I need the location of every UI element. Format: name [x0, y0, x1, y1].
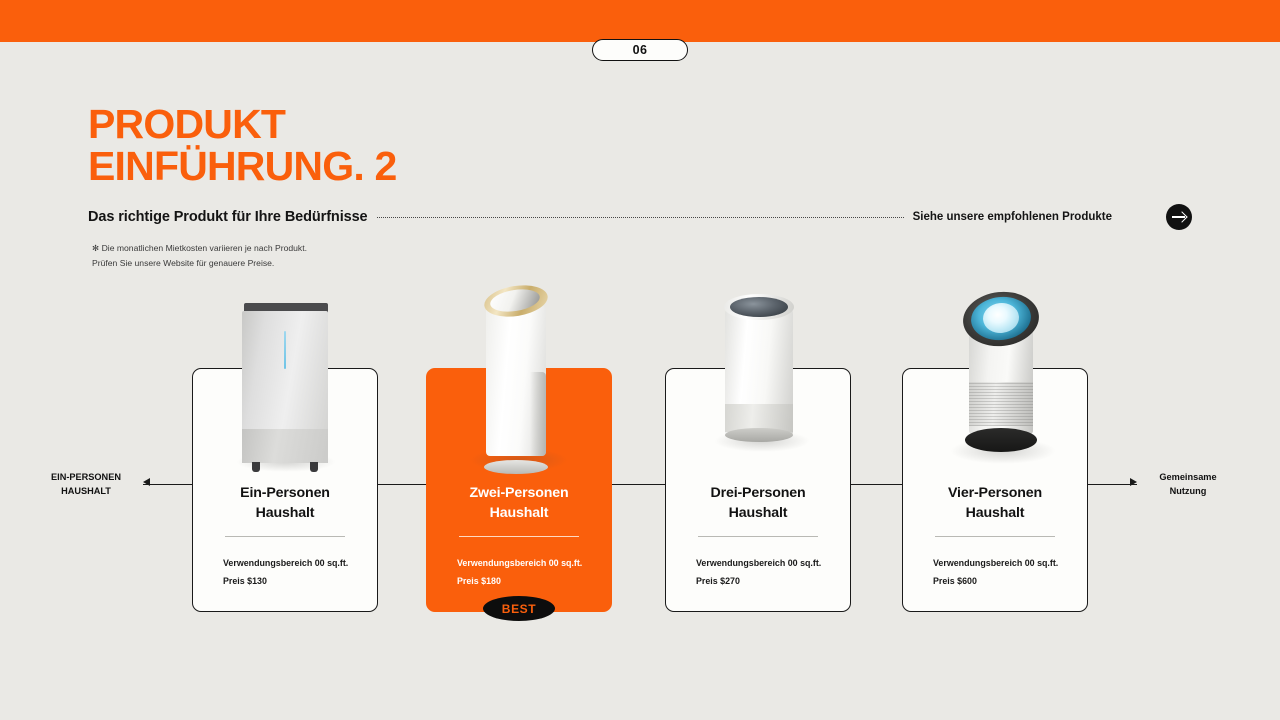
- product-image-four-person: [955, 286, 1047, 456]
- card-price: Preis $270: [696, 573, 850, 591]
- card-title-line1: Drei-Personen: [710, 485, 805, 501]
- card-price: Preis $600: [933, 573, 1087, 591]
- card-coverage: Verwendungsbereich 00 sq.ft.: [933, 555, 1087, 573]
- product-image-three-person: [722, 292, 796, 444]
- product-image-two-person: [478, 284, 554, 470]
- product-image-one-person: [242, 303, 328, 463]
- slide-root: 06 PRODUKT EINFÜHRUNG. 2 Das richtige Pr…: [0, 0, 1280, 720]
- card-divider: [698, 536, 818, 537]
- card-title-line2: Haushalt: [256, 505, 315, 521]
- product-card-row: Ein-Personen Haushalt Verwendungsbereich…: [0, 0, 1280, 720]
- card-divider: [459, 536, 579, 537]
- card-meta: Verwendungsbereich 00 sq.ft. Preis $600: [903, 555, 1087, 591]
- card-title-line1: Vier-Personen: [948, 485, 1042, 501]
- card-coverage: Verwendungsbereich 00 sq.ft.: [696, 555, 850, 573]
- card-title-line2: Haushalt: [729, 505, 788, 521]
- card-divider: [935, 536, 1055, 537]
- card-title: Drei-Personen Haushalt: [710, 484, 805, 523]
- best-badge: BEST: [483, 596, 555, 621]
- card-coverage: Verwendungsbereich 00 sq.ft.: [223, 555, 377, 573]
- card-title-line2: Haushalt: [490, 505, 549, 521]
- card-divider: [225, 536, 345, 537]
- card-title: Zwei-Personen Haushalt: [470, 484, 569, 523]
- card-price: Preis $180: [457, 573, 611, 591]
- card-meta: Verwendungsbereich 00 sq.ft. Preis $180: [427, 555, 611, 591]
- card-title-line1: Ein-Personen: [240, 485, 330, 501]
- card-title-line2: Haushalt: [966, 505, 1025, 521]
- card-price: Preis $130: [223, 573, 377, 591]
- card-meta: Verwendungsbereich 00 sq.ft. Preis $130: [193, 555, 377, 591]
- card-meta: Verwendungsbereich 00 sq.ft. Preis $270: [666, 555, 850, 591]
- card-title: Vier-Personen Haushalt: [948, 484, 1042, 523]
- card-title-line1: Zwei-Personen: [470, 485, 569, 501]
- card-coverage: Verwendungsbereich 00 sq.ft.: [457, 555, 611, 573]
- card-title: Ein-Personen Haushalt: [240, 484, 330, 523]
